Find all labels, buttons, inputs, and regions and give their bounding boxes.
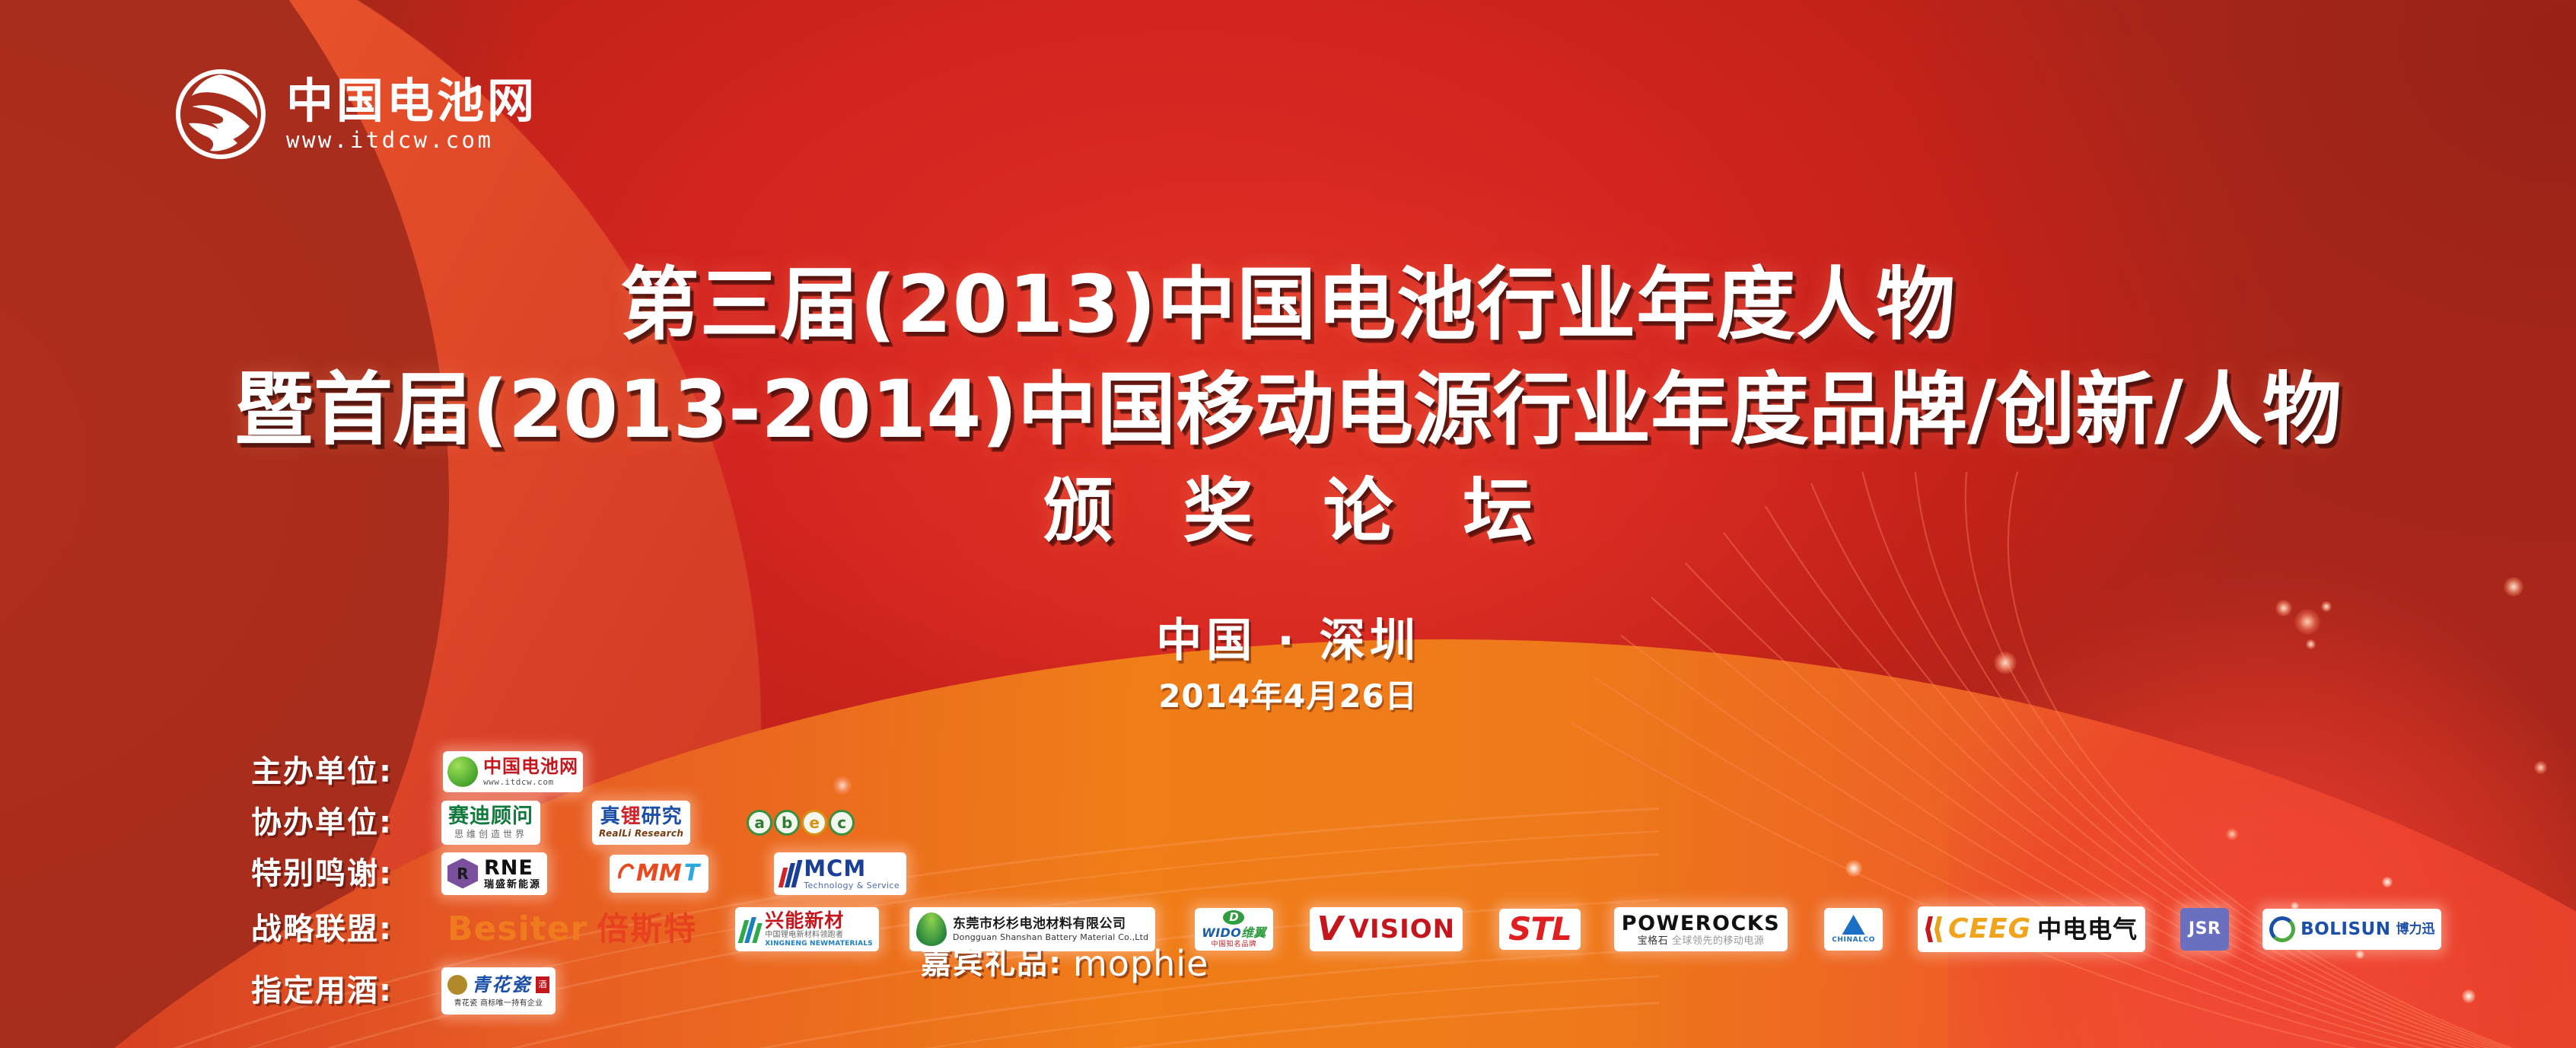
sponsor-logo-text: BOLISUN [2301, 921, 2390, 938]
title-line-1: 第三届(2013)中国电池行业年度人物 [0, 265, 2576, 344]
sponsor-logo-subtext: 瑞盛新能源 [484, 880, 541, 890]
sponsor-logo-text: JSR [2189, 921, 2221, 938]
arc-icon [615, 861, 638, 887]
sponsor-logo-ccid[interactable]: 赛迪顾问 思维创造世界 [441, 801, 540, 845]
sponsor-logo-text: c [829, 810, 855, 836]
sponsor-logo-text: Besiter [447, 913, 587, 946]
sponsor-logo-mmt[interactable]: MM T [610, 855, 708, 893]
sponsor-logo-text: T [684, 862, 699, 885]
sponsor-logo-mophie[interactable]: mophie [1073, 946, 1208, 981]
venue-city: 中国 · 深圳 [0, 618, 2576, 664]
title-line-3: 颁 奖 论 坛 [0, 476, 2576, 546]
sponsor-logo-itdcw[interactable]: 中国电池网 www.itdcw.com [443, 751, 583, 792]
venue-block: 中国 · 深圳 2014年4月26日 [0, 618, 2576, 712]
sponsor-logo-subtext: CHINALCO [1832, 937, 1875, 944]
sponsor-logo-text: 东莞市杉杉电池材料有限公司 [953, 918, 1148, 931]
sponsor-logo-text: 兴能新材 [765, 911, 873, 930]
sponsor-logo-subtext: 博力迅 [2396, 923, 2434, 936]
sponsor-logo-subtext: 中国知名品牌 [1211, 941, 1256, 948]
wine-char-icon: 酒 [536, 976, 549, 993]
sponsor-row-alliance: 战略联盟: Besiter 倍斯特 兴能新材 中国锂电新材料领跑者 XINGNE… [251, 899, 2549, 960]
guest-gift-row: 嘉宾礼品: mophie [921, 946, 1208, 981]
ring-icon [2269, 916, 2295, 942]
sponsor-logo-stl[interactable]: STL [1499, 909, 1581, 950]
hexagon-horse-icon: R [447, 858, 478, 889]
globe-swoosh-icon [174, 67, 268, 161]
sponsor-row-coorganizer: 协办单位: 赛迪顾问 思维创造世界 真锂研究 RealLi Research a… [251, 797, 2549, 848]
sponsor-section: 主办单位: 中国电池网 www.itdcw.com 协办单位: 赛迪顾问 思维创… [251, 746, 2549, 1019]
sponsor-logo-subtext: XINGNENG NEWMATERIALS [765, 941, 873, 948]
sponsor-logo-text: 青花瓷 [472, 976, 531, 994]
event-banner: 中国电池网 www.itdcw.com 第三届(2013)中国电池行业年度人物 … [0, 0, 2576, 1048]
sponsor-logo-rne[interactable]: R RNE 瑞盛新能源 [441, 852, 547, 895]
sponsor-row-label: 指定用酒: [251, 976, 440, 1006]
bars-icon [781, 860, 799, 887]
sponsor-row-label: 主办单位: [251, 757, 440, 787]
sponsor-logo-abec[interactable]: a b e c [740, 804, 861, 842]
sponsor-logo-text: VISION [1349, 916, 1455, 942]
sponsor-logo-chinalco[interactable]: CHINALCO [1824, 908, 1883, 951]
title-block: 第三届(2013)中国电池行业年度人物 暨首届(2013-2014)中国移动电源… [0, 265, 2576, 546]
sponsor-row-label: 战略联盟: [251, 914, 440, 944]
sponsor-logo-qinghuaci[interactable]: 青花瓷 酒 青花瓷 商标唯一持有企业 [441, 967, 556, 1015]
sponsor-row-label: 特别鸣谢: [251, 858, 440, 889]
sponsor-logo-text: 维翼 [1241, 925, 1266, 940]
sponsor-logo-text: RNE [484, 858, 541, 878]
sponsor-logo-realli[interactable]: 真锂研究 RealLi Research [592, 801, 690, 845]
circle-d-icon: D [1223, 910, 1244, 925]
chevron-icon [1925, 916, 1942, 942]
sponsor-logo-subtext: RealLi Research [599, 829, 683, 838]
v-mark-icon: V [1317, 914, 1343, 944]
sponsor-row-host: 主办单位: 中国电池网 www.itdcw.com [251, 746, 2549, 797]
sponsor-logo-text: 赛迪顾问 [448, 806, 533, 827]
seal-icon [447, 975, 467, 995]
leaf-icon [916, 913, 947, 946]
sponsor-logo-text: CEEG [1948, 916, 2031, 943]
title-line-2: 暨首届(2013-2014)中国移动电源行业年度品牌/创新/人物 [0, 370, 2576, 449]
triangle-icon [1842, 915, 1865, 935]
sponsor-logo-subtext: Technology & Service [804, 881, 900, 890]
sponsor-logo-text: a [747, 810, 772, 836]
sponsor-logo-text: POWEROCKS [1622, 913, 1780, 934]
guest-gift-label: 嘉宾礼品: [921, 948, 1062, 979]
logo-url: www.itdcw.com [286, 129, 537, 151]
venue-date: 2014年4月26日 [0, 680, 2576, 712]
bars-icon [741, 916, 759, 943]
sponsor-logo-text: MCM [804, 858, 900, 880]
sponsor-logo-subtext: 全球领先的移动电源 [1672, 935, 1765, 947]
sponsor-logo-besiter[interactable]: Besiter 倍斯特 [440, 906, 705, 953]
sponsor-logo-text: MM [636, 862, 682, 885]
sponsor-logo-subtext: www.itdcw.com [483, 778, 578, 786]
sponsor-logo-text: STL [1508, 913, 1571, 945]
sponsor-logo-text: b [774, 810, 800, 836]
sponsor-logo-text: 真 [600, 805, 621, 828]
sponsor-logo-text: 锂 [621, 805, 642, 828]
sponsor-logo-subtext: Dongguan Shanshan Battery Material Co.,L… [953, 933, 1148, 941]
sponsor-logo-subtext: 宝格石 [1638, 935, 1669, 947]
sponsor-logo-subtext: 青花瓷 商标唯一持有企业 [454, 1000, 543, 1008]
sponsor-logo-text: e [801, 810, 827, 836]
sponsor-logo-bolisun[interactable]: BOLISUN 博力迅 [2262, 909, 2441, 950]
sponsor-logo-jsr[interactable]: JSR [2180, 908, 2229, 951]
sponsor-logo-powerocks[interactable]: POWEROCKS 宝格石 全球领先的移动电源 [1614, 907, 1788, 951]
sponsor-logo-xingneng[interactable]: 兴能新材 中国锂电新材料领跑者 XINGNENG NEWMATERIALS [735, 907, 879, 951]
sponsor-logo-mcm[interactable]: MCM Technology & Service [774, 852, 906, 895]
sponsor-logo-text: 研究 [642, 805, 683, 828]
leaf-globe-icon [447, 757, 478, 787]
sponsor-logo-ceeg[interactable]: CEEG 中电电气 [1918, 906, 2145, 952]
logo-name: 中国电池网 [286, 78, 537, 125]
sponsor-logo-text: 中电电气 [2037, 917, 2138, 941]
sponsor-logo-vision[interactable]: V VISION [1310, 907, 1463, 951]
sponsor-row-thanks: 特别鸣谢: R RNE 瑞盛新能源 MM T MCM [251, 848, 2549, 899]
sponsor-row-label: 协办单位: [251, 808, 440, 838]
sponsor-row-wine: 指定用酒: 青花瓷 酒 青花瓷 商标唯一持有企业 [251, 963, 2549, 1019]
sponsor-logo-subtext: 思维创造世界 [454, 830, 527, 839]
site-logo: 中国电池网 www.itdcw.com [174, 67, 537, 161]
sponsor-logo-text: WIDO [1202, 925, 1241, 940]
sponsor-logo-text: 中国电池网 [483, 757, 578, 776]
sponsor-logo-text: 倍斯特 [597, 913, 697, 945]
sponsor-logo-subtext: 中国锂电新材料领跑者 [765, 932, 873, 939]
